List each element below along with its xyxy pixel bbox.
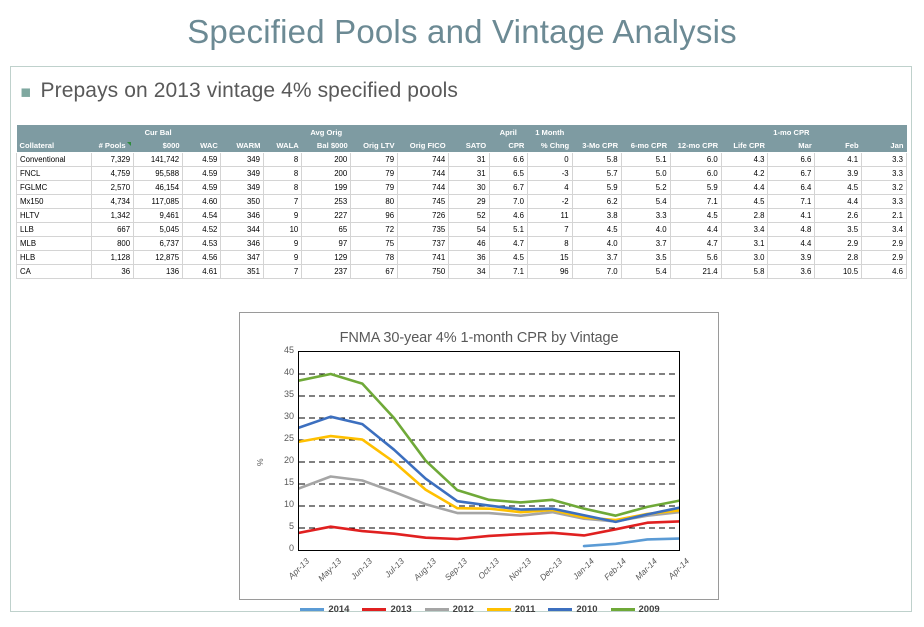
table-cell: 5.7 <box>572 167 621 181</box>
chart-legend-label: 2011 <box>515 604 536 615</box>
table-cell: 10.5 <box>815 265 862 279</box>
table-cell: 800 <box>91 237 134 251</box>
table-cell: 46 <box>449 237 489 251</box>
table-cell: 4.1 <box>768 209 815 223</box>
table-cell: 10 <box>263 223 301 237</box>
chart-legend: 201420132012201120102009 <box>240 604 720 615</box>
table-cell: 0 <box>527 153 572 167</box>
chart-y-tick: 35 <box>270 389 294 399</box>
table-cell: 4.3 <box>721 153 768 167</box>
table-head: Cur BalAvg OrigApril1 Month1-mo CPR Coll… <box>17 125 907 153</box>
table-group-header: April <box>489 125 527 137</box>
table-cell: 237 <box>302 265 351 279</box>
table-cell: 1,342 <box>91 209 134 223</box>
table-cell: 7.0 <box>572 265 621 279</box>
table-cell: 4,734 <box>91 195 134 209</box>
chart-x-tick: Jun-13 <box>339 556 374 591</box>
chart-series-line <box>299 374 679 516</box>
table-group-header-blank <box>351 125 489 137</box>
chart-legend-item[interactable]: 2009 <box>611 604 660 615</box>
chart-plot-area <box>298 351 680 551</box>
table-cell: 5.2 <box>621 181 670 195</box>
table-cell: 4.54 <box>183 209 221 223</box>
table-cell: 3.3 <box>621 209 670 223</box>
table-cell: 3.7 <box>572 251 621 265</box>
table-column-header[interactable]: Mar <box>768 137 815 153</box>
table-cell: 4.59 <box>183 167 221 181</box>
chart-legend-item[interactable]: 2014 <box>300 604 349 615</box>
table-group-header: 1 Month <box>527 125 572 137</box>
table-cell: 5.8 <box>721 265 768 279</box>
table-cell: 4.5 <box>489 251 527 265</box>
legend-swatch-icon <box>425 608 449 611</box>
table-cell: 2,570 <box>91 181 134 195</box>
chart-legend-item[interactable]: 2011 <box>487 604 536 615</box>
table-cell: 80 <box>351 195 398 209</box>
table-cell: 5.0 <box>621 167 670 181</box>
table-cell: 21.4 <box>670 265 721 279</box>
table-cell: 2.8 <box>721 209 768 223</box>
table-cell: 3.3 <box>862 153 907 167</box>
content-frame: ▪ Prepays on 2013 vintage 4% specified p… <box>10 66 912 612</box>
table-cell: 9,461 <box>134 209 183 223</box>
table-cell: 31 <box>449 153 489 167</box>
table-cell: 3.5 <box>621 251 670 265</box>
table-cell: 3.2 <box>862 181 907 195</box>
chart-legend-label: 2010 <box>576 604 597 615</box>
bullet-text: Prepays on 2013 vintage 4% specified poo… <box>41 79 458 103</box>
table-cell: 2.6 <box>815 209 862 223</box>
table-cell: 96 <box>527 265 572 279</box>
table-cell: 4.53 <box>183 237 221 251</box>
table-cell: 349 <box>221 153 264 167</box>
table-cell: 3.3 <box>862 167 907 181</box>
table-cell: 1,128 <box>91 251 134 265</box>
table-cell: 4,759 <box>91 167 134 181</box>
bullet-marker-icon: ▪ <box>20 84 32 101</box>
chart-x-tick: Apr-13 <box>276 556 311 591</box>
chart-legend-item[interactable]: 2010 <box>548 604 597 615</box>
table-cell: 4.4 <box>721 181 768 195</box>
table-cell: 3.4 <box>862 223 907 237</box>
table-cell: 2.9 <box>862 237 907 251</box>
table-column-header[interactable]: $000 <box>134 137 183 153</box>
table-cell: 227 <box>302 209 351 223</box>
chart-series-line <box>299 436 679 520</box>
table-cell: 7.1 <box>489 265 527 279</box>
table-cell: 34 <box>449 265 489 279</box>
table-cell: 2.8 <box>815 251 862 265</box>
table-cell: 6.0 <box>670 153 721 167</box>
table-cell: 667 <box>91 223 134 237</box>
table-cell: 3.8 <box>572 209 621 223</box>
chart-svg <box>299 352 679 550</box>
table-cell: 4.8 <box>768 223 815 237</box>
table-cell: 4.0 <box>621 223 670 237</box>
table-cell: 3.0 <box>721 251 768 265</box>
table-cell: 745 <box>398 195 449 209</box>
table-cell: 200 <box>302 153 351 167</box>
table-group-header-blank <box>17 125 134 137</box>
table-cell: 349 <box>221 181 264 195</box>
table-cell: 4.7 <box>670 237 721 251</box>
table-cell: 117,085 <box>134 195 183 209</box>
table-cell: -3 <box>527 167 572 181</box>
legend-swatch-icon <box>362 608 386 611</box>
table-row[interactable]: LLB6675,0454.52344106572735545.174.54.04… <box>17 223 907 237</box>
table-cell: 744 <box>398 167 449 181</box>
table-body: Conventional7,329141,7424.59349820079744… <box>17 153 907 279</box>
table-cell: 737 <box>398 237 449 251</box>
table-group-header-blank <box>572 125 768 137</box>
table-cell: 5.8 <box>572 153 621 167</box>
table-cell: 4.5 <box>815 181 862 195</box>
table-cell: 136 <box>134 265 183 279</box>
table-cell: 8 <box>263 167 301 181</box>
table-cell: 5.9 <box>670 181 721 195</box>
table-column-header[interactable]: Jan <box>862 137 907 153</box>
table-cell: 31 <box>449 167 489 181</box>
table-cell: 7.1 <box>768 195 815 209</box>
chart-x-tick: Feb-14 <box>592 556 627 591</box>
chart-x-tick: Apr-14 <box>656 556 691 591</box>
table-cell: 46,154 <box>134 181 183 195</box>
chart-y-tick: 45 <box>270 345 294 355</box>
table-cell: 4.61 <box>183 265 221 279</box>
table-cell: 95,588 <box>134 167 183 181</box>
table-column-header[interactable]: Life CPR <box>721 137 768 153</box>
legend-swatch-icon <box>548 608 572 611</box>
table-cell: 2.9 <box>862 251 907 265</box>
table-cell: 79 <box>351 181 398 195</box>
table-cell: 29 <box>449 195 489 209</box>
table-cell: 4.5 <box>572 223 621 237</box>
table-column-header[interactable]: WAC <box>183 137 221 153</box>
table-group-header-row: Cur BalAvg OrigApril1 Month1-mo CPR <box>17 125 907 137</box>
chart-title: FNMA 30-year 4% 1-month CPR by Vintage <box>240 313 718 346</box>
chart-y-tick: 0 <box>270 543 294 553</box>
table-cell: 54 <box>449 223 489 237</box>
table-cell: 3.9 <box>815 167 862 181</box>
table-column-header[interactable]: WARM <box>221 137 264 153</box>
table-cell: 72 <box>351 223 398 237</box>
table-row-label: LLB <box>17 223 92 237</box>
table-cell: 5.6 <box>670 251 721 265</box>
table-header-row: Collateral# Pools$000WACWARMWALABal $000… <box>17 137 907 153</box>
table-cell: 344 <box>221 223 264 237</box>
table-group-header-blank <box>183 125 302 137</box>
table-cell: 4.6 <box>489 209 527 223</box>
table-row-label: Mx150 <box>17 195 92 209</box>
table-cell: 9 <box>263 209 301 223</box>
table-cell: 2.9 <box>815 237 862 251</box>
chart-y-axis-ticks: 051015202530354045 <box>268 346 294 546</box>
table-cell: 4.4 <box>670 223 721 237</box>
table-cell: 12,875 <box>134 251 183 265</box>
table-row-label: MLB <box>17 237 92 251</box>
chart-series-line <box>584 539 679 546</box>
table-cell: 7.0 <box>489 195 527 209</box>
table-cell: 52 <box>449 209 489 223</box>
table-cell: 4.52 <box>183 223 221 237</box>
table-cell: 4.4 <box>815 195 862 209</box>
table-group-header: 1-mo CPR <box>768 125 815 137</box>
table-cell: 7.1 <box>670 195 721 209</box>
table-cell: 65 <box>302 223 351 237</box>
table-cell: 349 <box>221 167 264 181</box>
table-cell: 5.4 <box>621 265 670 279</box>
table-cell: -2 <box>527 195 572 209</box>
table-row[interactable]: Conventional7,329141,7424.59349820079744… <box>17 153 907 167</box>
table-cell: 4.5 <box>721 195 768 209</box>
table-cell: 5.9 <box>572 181 621 195</box>
table-column-header[interactable]: 3-Mo CPR <box>572 137 621 153</box>
table-cell: 3.1 <box>721 237 768 251</box>
table-row[interactable]: FNCL4,75995,5884.59349820079744316.5-35.… <box>17 167 907 181</box>
table-cell: 5.4 <box>621 195 670 209</box>
table-cell: 6.0 <box>670 167 721 181</box>
table-cell: 7 <box>263 195 301 209</box>
chart-x-tick: Dec-13 <box>529 556 564 591</box>
chart-legend-item[interactable]: 2013 <box>362 604 411 615</box>
table-cell: 744 <box>398 153 449 167</box>
table-cell: 11 <box>527 209 572 223</box>
table-column-header[interactable]: CPR <box>489 137 527 153</box>
table-cell: 3.5 <box>815 223 862 237</box>
table-cell: 5.1 <box>489 223 527 237</box>
table-row[interactable]: Mx1504,734117,0854.60350725380745297.0-2… <box>17 195 907 209</box>
table-cell: 6.6 <box>489 153 527 167</box>
table-cell: 2.1 <box>862 209 907 223</box>
table-cell: 253 <box>302 195 351 209</box>
table-cell: 735 <box>398 223 449 237</box>
table-row-label: HLB <box>17 251 92 265</box>
filter-flag-icon <box>127 142 131 146</box>
table-cell: 5,045 <box>134 223 183 237</box>
table-cell: 4 <box>527 181 572 195</box>
chart-legend-item[interactable]: 2012 <box>425 604 474 615</box>
table-cell: 75 <box>351 237 398 251</box>
table-cell: 5.1 <box>621 153 670 167</box>
legend-swatch-icon <box>300 608 324 611</box>
table-cell: 79 <box>351 153 398 167</box>
table-cell: 346 <box>221 209 264 223</box>
table-cell: 726 <box>398 209 449 223</box>
chart-x-tick: May-13 <box>307 556 342 591</box>
table-cell: 129 <box>302 251 351 265</box>
table-cell: 4.6 <box>862 265 907 279</box>
table-row[interactable]: HLTV1,3429,4614.54346922796726524.6113.8… <box>17 209 907 223</box>
table-cell: 3.3 <box>862 195 907 209</box>
table-cell: 351 <box>221 265 264 279</box>
table-cell: 3.6 <box>768 265 815 279</box>
table-cell: 200 <box>302 167 351 181</box>
table-cell: 350 <box>221 195 264 209</box>
table-cell: 6,737 <box>134 237 183 251</box>
table-cell: 6.2 <box>572 195 621 209</box>
table-cell: 744 <box>398 181 449 195</box>
table-row-label: Conventional <box>17 153 92 167</box>
chart-y-tick: 40 <box>270 367 294 377</box>
table-cell: 4.0 <box>572 237 621 251</box>
chart-x-tick: Sep-13 <box>434 556 469 591</box>
table-cell: 30 <box>449 181 489 195</box>
table-cell: 750 <box>398 265 449 279</box>
table-row[interactable]: MLB8006,7374.5334699775737464.784.03.74.… <box>17 237 907 251</box>
chart-x-tick: Nov-13 <box>497 556 532 591</box>
table-row-label: HLTV <box>17 209 92 223</box>
table-row-label: FGLMC <box>17 181 92 195</box>
table-cell: 36 <box>449 251 489 265</box>
table-cell: 7 <box>527 223 572 237</box>
table-cell: 346 <box>221 237 264 251</box>
table-cell: 3.7 <box>621 237 670 251</box>
table-column-header[interactable]: WALA <box>263 137 301 153</box>
page-title: Specified Pools and Vintage Analysis <box>0 0 924 50</box>
table-cell: 4.56 <box>183 251 221 265</box>
table-row-label: CA <box>17 265 92 279</box>
table-column-header[interactable]: Orig LTV <box>351 137 398 153</box>
table-cell: 141,742 <box>134 153 183 167</box>
table-cell: 6.5 <box>489 167 527 181</box>
table-cell: 6.4 <box>768 181 815 195</box>
table-cell: 96 <box>351 209 398 223</box>
legend-swatch-icon <box>611 608 635 611</box>
table-cell: 9 <box>263 237 301 251</box>
table-cell: 4.59 <box>183 153 221 167</box>
collateral-table-wrapper: Cur BalAvg OrigApril1 Month1-mo CPR Coll… <box>16 125 907 279</box>
chart-x-axis-ticks: Apr-13May-13Jun-13Jul-13Aug-13Sep-13Oct-… <box>298 554 680 609</box>
chart-y-tick: 15 <box>270 477 294 487</box>
table-cell: 36 <box>91 265 134 279</box>
table-column-header[interactable]: % Chng <box>527 137 572 153</box>
table-cell: 8 <box>263 181 301 195</box>
chart-x-tick: Oct-13 <box>466 556 501 591</box>
table-cell: 78 <box>351 251 398 265</box>
table-column-header[interactable]: Bal $000 <box>302 137 351 153</box>
collateral-table: Cur BalAvg OrigApril1 Month1-mo CPR Coll… <box>16 125 907 279</box>
table-column-header[interactable]: # Pools <box>91 137 134 153</box>
table-cell: 4.7 <box>489 237 527 251</box>
chart-y-tick: 30 <box>270 411 294 421</box>
chart-x-tick: Jan-14 <box>561 556 596 591</box>
chart-y-tick: 10 <box>270 499 294 509</box>
chart-legend-label: 2009 <box>639 604 660 615</box>
table-row[interactable]: FGLMC2,57046,1544.59349819979744306.745.… <box>17 181 907 195</box>
chart-y-tick: 25 <box>270 433 294 443</box>
table-cell: 6.6 <box>768 153 815 167</box>
table-cell: 97 <box>302 237 351 251</box>
table-column-header[interactable]: Orig FICO <box>398 137 449 153</box>
chart-y-tick: 20 <box>270 455 294 465</box>
table-column-header[interactable]: 6-mo CPR <box>621 137 670 153</box>
table-cell: 3.4 <box>721 223 768 237</box>
table-column-header[interactable]: SATO <box>449 137 489 153</box>
table-cell: 8 <box>527 237 572 251</box>
table-cell: 347 <box>221 251 264 265</box>
table-column-header[interactable]: Feb <box>815 137 862 153</box>
table-row-label: FNCL <box>17 167 92 181</box>
table-cell: 4.5 <box>670 209 721 223</box>
chart-y-tick: 5 <box>270 521 294 531</box>
bullet-row: ▪ Prepays on 2013 vintage 4% specified p… <box>11 67 911 103</box>
chart-legend-label: 2012 <box>453 604 474 615</box>
table-cell: 79 <box>351 167 398 181</box>
table-cell: 9 <box>263 251 301 265</box>
table-cell: 6.7 <box>768 167 815 181</box>
table-cell: 199 <box>302 181 351 195</box>
table-cell: 4.4 <box>768 237 815 251</box>
chart-body: % 051015202530354045 Apr-13May-13Jun-13J… <box>240 346 720 571</box>
chart-legend-label: 2014 <box>328 604 349 615</box>
table-cell: 67 <box>351 265 398 279</box>
table-cell: 6.7 <box>489 181 527 195</box>
chart-series-line <box>299 521 679 539</box>
table-cell: 8 <box>263 153 301 167</box>
table-cell: 4.59 <box>183 181 221 195</box>
table-cell: 3.9 <box>768 251 815 265</box>
table-cell: 7 <box>263 265 301 279</box>
table-group-header: Cur Bal <box>134 125 183 137</box>
table-cell: 15 <box>527 251 572 265</box>
table-row[interactable]: CA361364.61351723767750347.1967.05.421.4… <box>17 265 907 279</box>
table-cell: 4.60 <box>183 195 221 209</box>
chart-y-axis-label: % <box>255 458 265 466</box>
table-cell: 4.1 <box>815 153 862 167</box>
chart-x-tick: Aug-13 <box>402 556 437 591</box>
table-column-header[interactable]: 12-mo CPR <box>670 137 721 153</box>
chart-x-tick: Mar-14 <box>624 556 659 591</box>
table-row[interactable]: HLB1,12812,8754.56347912978741364.5153.7… <box>17 251 907 265</box>
table-cell: 4.2 <box>721 167 768 181</box>
table-cell: 7,329 <box>91 153 134 167</box>
chart-panel: FNMA 30-year 4% 1-month CPR by Vintage %… <box>239 312 719 600</box>
chart-x-tick: Jul-13 <box>371 556 406 591</box>
table-column-header[interactable]: Collateral <box>17 137 92 153</box>
table-cell: 741 <box>398 251 449 265</box>
table-group-header: Avg Orig <box>302 125 351 137</box>
table-group-header-blank <box>815 125 907 137</box>
chart-legend-label: 2013 <box>390 604 411 615</box>
legend-swatch-icon <box>487 608 511 611</box>
